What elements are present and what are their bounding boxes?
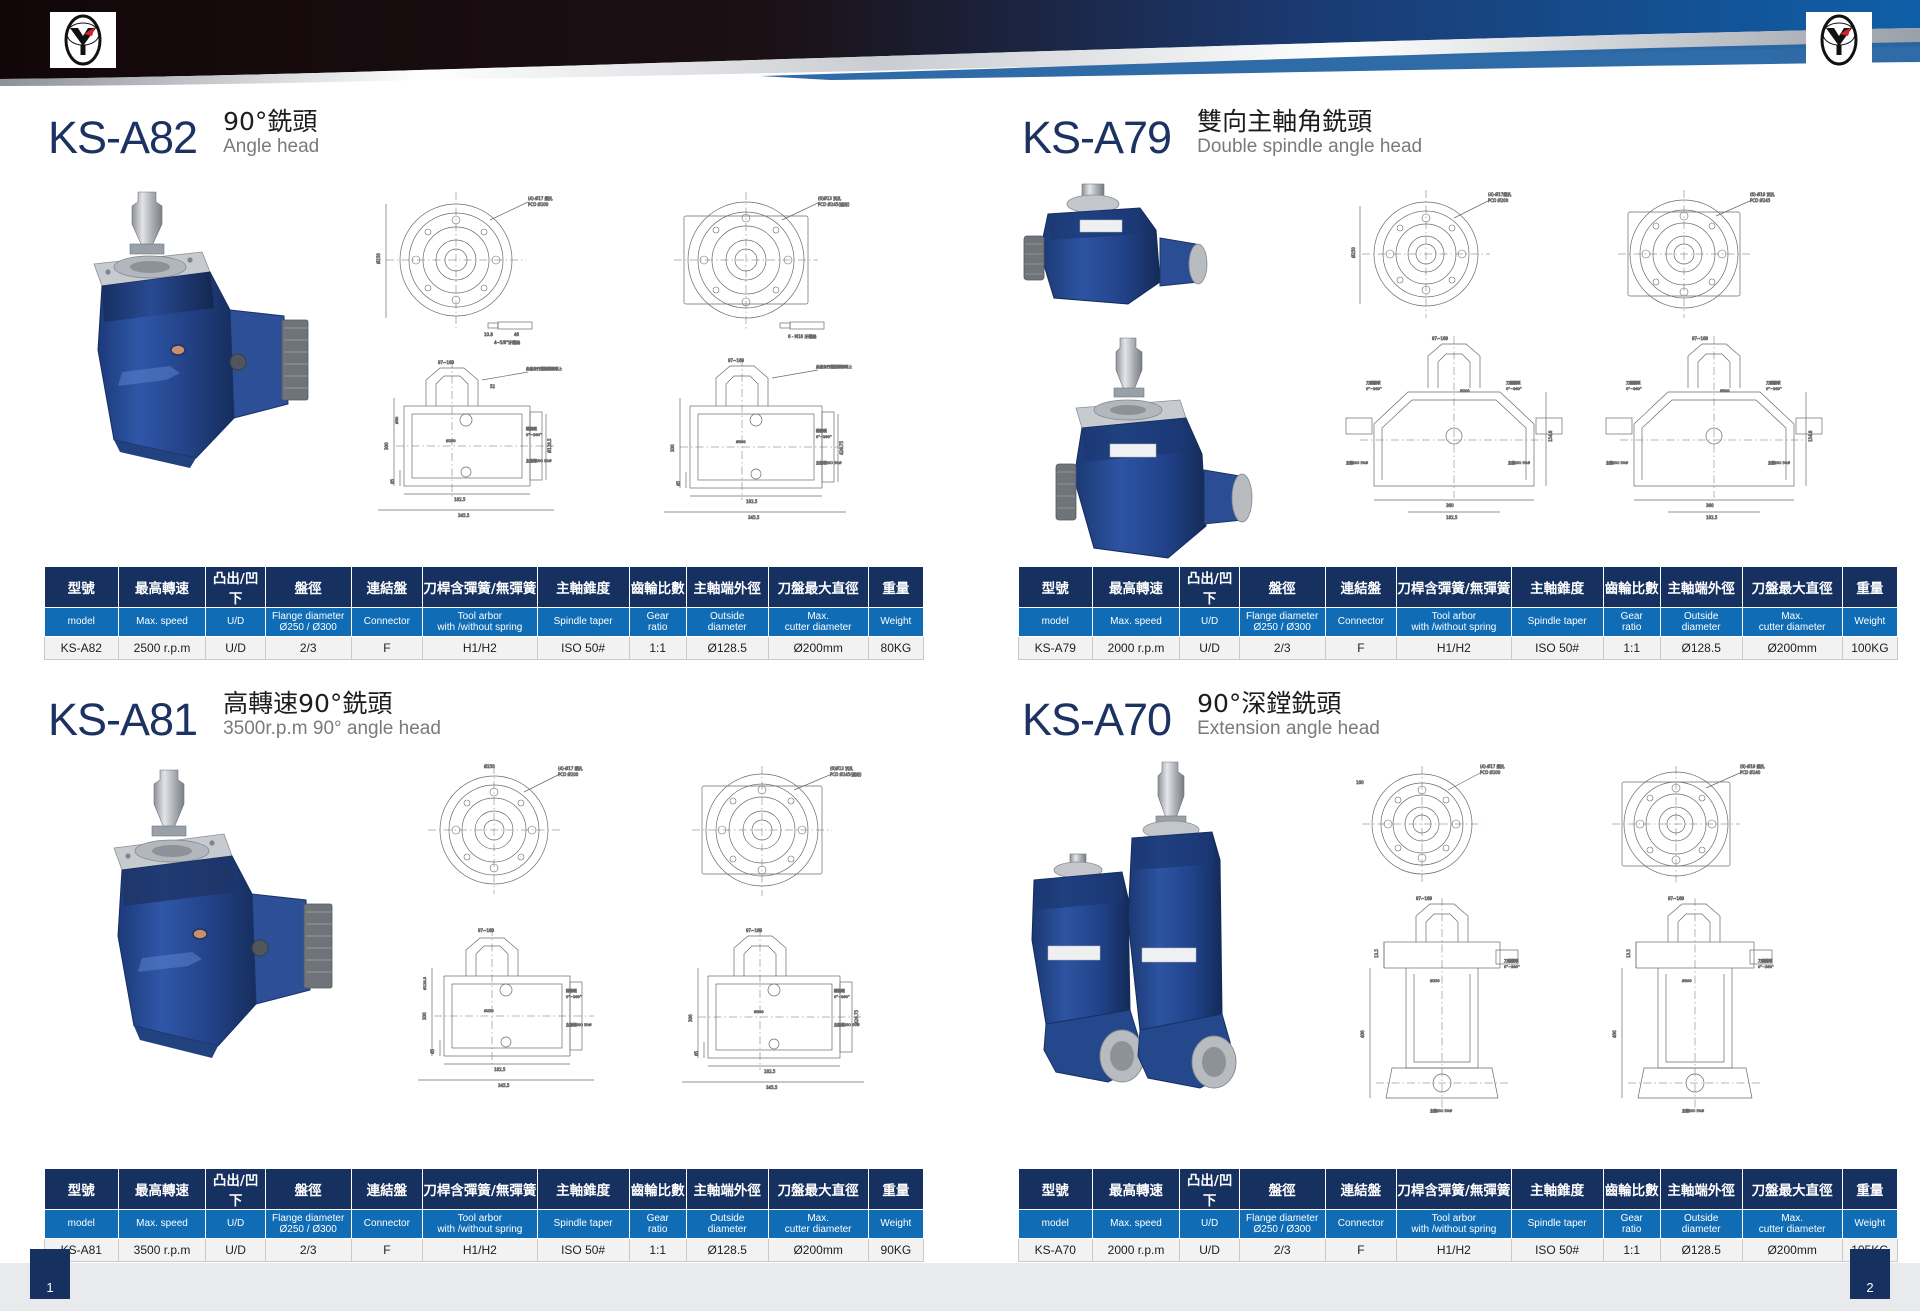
svg-text:主軸ISO 50#: 主軸ISO 50# [1346, 460, 1368, 465]
svg-text:(4)-Ø17鑽孔: (4)-Ø17鑽孔 [1488, 191, 1511, 197]
svg-text:97~169: 97~169 [728, 358, 745, 363]
svg-text:Ø128.5: Ø128.5 [547, 438, 552, 453]
svg-text:182.5: 182.5 [1446, 515, 1458, 520]
svg-text:Ø250: Ø250 [484, 1008, 494, 1013]
svg-text:Ø300: Ø300 [1720, 388, 1730, 393]
th-en-1: Max. speed [118, 608, 206, 637]
svg-text:Ø50: Ø50 [394, 416, 399, 424]
th-cn-2: 凸出/凹下 [1180, 567, 1239, 608]
svg-text:0°~360°: 0°~360° [1766, 387, 1782, 391]
th-cn-9: 刀盤最大直徑 [768, 567, 868, 608]
svg-text:(6)Ø13 沉孔: (6)Ø13 沉孔 [818, 195, 841, 201]
th-cn-7: 齒輪比數 [629, 1169, 686, 1210]
th-en-8: Outsidediameter [686, 1210, 768, 1239]
th-cn-1: 最高轉速 [118, 1169, 206, 1210]
svg-text:182.5: 182.5 [454, 497, 466, 502]
th-cn-5: 刀桿含彈簧/無彈簧 [1397, 567, 1511, 608]
svg-text:刀盤擺頭: 刀盤擺頭 [1758, 958, 1773, 963]
cell-ud: U/D [206, 637, 265, 660]
technical-drawing-ks-a81: (4)-Ø17 鑽孔 PCD Ø200 Ø250 [400, 760, 960, 1130]
th-en-4: Connector [1325, 1210, 1397, 1239]
svg-text:345.5: 345.5 [458, 513, 470, 518]
product-header-ks-a70: KS-A70 90°深鏜銑頭 Extension angle head [1022, 690, 1380, 742]
svg-text:刀盤擺頭: 刀盤擺頭 [1504, 958, 1519, 963]
th-en-8: Outsidediameter [686, 608, 768, 637]
th-en-7: Gearratio [1603, 608, 1660, 637]
svg-text:13.5: 13.5 [1626, 949, 1631, 958]
svg-text:刀盤擺頭: 刀盤擺頭 [1626, 380, 1641, 385]
th-cn-6: 主軸錐度 [1511, 567, 1603, 608]
table-header-row-en: model Max. speed U/D Flange diameterØ250… [45, 1210, 924, 1239]
svg-text:300: 300 [688, 1014, 693, 1022]
table-header-row-en: model Max. speed U/D Flange diameterØ250… [45, 608, 924, 637]
product-title-cn: 雙向主軸角銑頭 [1197, 108, 1422, 136]
svg-text:300: 300 [670, 444, 675, 452]
cell-taper: ISO 50# [1511, 637, 1603, 660]
product-header-ks-a79: KS-A79 雙向主軸角銑頭 Double spindle angle head [1022, 108, 1422, 160]
svg-text:刀盤擺頭: 刀盤擺頭 [1766, 380, 1781, 385]
th-cn-0: 型號 [45, 1169, 119, 1210]
svg-text:13.5: 13.5 [1374, 949, 1379, 958]
product-title-en: 3500r.p.m 90° angle head [223, 718, 441, 740]
product-title-cn: 90°深鏜銑頭 [1197, 690, 1380, 718]
svg-text:PCD Ø245(適用): PCD Ø245(適用) [818, 201, 850, 207]
svg-text:65: 65 [390, 478, 395, 484]
svg-text:0°~360°: 0°~360° [1626, 387, 1642, 391]
svg-text:主軸端ISO 50#: 主軸端ISO 50# [566, 1022, 592, 1027]
svg-text:6 - M18 牙螺絲: 6 - M18 牙螺絲 [788, 333, 816, 339]
svg-text:Ø300: Ø300 [754, 1009, 764, 1014]
th-en-4: Connector [1325, 608, 1397, 637]
th-cn-10: 重量 [868, 567, 923, 608]
th-cn-1: 最高轉速 [118, 567, 206, 608]
table-row: KS-A79 2000 r.p.m U/D 2/3 F H1/H2 ISO 50… [1019, 637, 1898, 660]
th-cn-10: 重量 [1842, 1169, 1897, 1210]
cell-weight: 80KG [868, 637, 923, 660]
svg-text:Ø300: Ø300 [1682, 978, 1692, 983]
th-en-3: Flange diameterØ250 / Ø300 [265, 608, 351, 637]
cell-speed: 2500 r.p.m [118, 637, 206, 660]
th-cn-5: 刀桿含彈簧/無彈簧 [1397, 1169, 1511, 1210]
svg-text:PCD Ø200: PCD Ø200 [528, 202, 549, 207]
svg-text:46: 46 [514, 332, 520, 337]
product-code: KS-A82 [48, 115, 197, 160]
svg-text:0°~360°: 0°~360° [566, 995, 582, 999]
technical-drawing-ks-a82: (4)-Ø17 鑽孔 PCD Ø200 Ø250 10.8 46 4~5/8"牙… [360, 188, 970, 558]
svg-text:(4)-Ø17 鑽孔: (4)-Ø17 鑽孔 [1480, 763, 1505, 769]
svg-text:400: 400 [1360, 1030, 1365, 1038]
svg-text:Ø200: Ø200 [1460, 388, 1470, 393]
th-en-6: Spindle taper [537, 1210, 629, 1239]
svg-text:Ø250: Ø250 [1351, 247, 1356, 258]
th-en-7: Gearratio [1603, 1210, 1660, 1239]
spec-table-ks-a81: 型號 最高轉速 凸出/凹下 盤徑 連結盤 刀桿含彈簧/無彈簧 主軸錐度 齒輪比數… [44, 1168, 924, 1262]
svg-text:97~169: 97~169 [438, 360, 455, 365]
page-number-right: 2 [1850, 1249, 1890, 1299]
th-en-5: Tool arborwith /without spring [1397, 608, 1511, 637]
cell-arbor: H1/H2 [1397, 637, 1511, 660]
th-en-6: Spindle taper [1511, 1210, 1603, 1239]
th-en-5: Tool arborwith /without spring [423, 1210, 537, 1239]
cell-cutter: Ø200mm [768, 637, 868, 660]
product-header-ks-a81: KS-A81 高轉速90°銑頭 3500r.p.m 90° angle head [48, 690, 441, 742]
svg-text:轉接環: 轉接環 [834, 988, 845, 993]
page-number-left: 1 [30, 1249, 70, 1299]
spec-table-ks-a79: 型號 最高轉速 凸出/凹下 盤徑 連結盤 刀桿含彈簧/無彈簧 主軸錐度 齒輪比數… [1018, 566, 1898, 660]
svg-text:0°~360°: 0°~360° [1506, 387, 1522, 391]
th-cn-7: 齒輪比數 [1603, 567, 1660, 608]
svg-text:0°~360°: 0°~360° [1366, 387, 1382, 391]
svg-text:(6)-Ø19 鑽孔: (6)-Ø19 鑽孔 [1740, 763, 1765, 769]
th-en-3: Flange diameterØ250 / Ø300 [1239, 1210, 1325, 1239]
table-header-row-cn: 型號 最高轉速 凸出/凹下 盤徑 連結盤 刀桿含彈簧/無彈簧 主軸錐度 齒輪比數… [45, 567, 924, 608]
th-cn-9: 刀盤最大直徑 [1742, 1169, 1842, 1210]
th-cn-7: 齒輪比數 [1603, 1169, 1660, 1210]
th-en-0: model [1019, 608, 1093, 637]
product-title-cn: 高轉速90°銑頭 [223, 690, 441, 718]
svg-text:PCD Ø245: PCD Ø245 [1750, 198, 1771, 203]
th-cn-4: 連結盤 [1325, 1169, 1397, 1210]
cell-weight: 100KG [1842, 637, 1897, 660]
cell-connector: F [351, 637, 423, 660]
svg-text:345.5: 345.5 [498, 1083, 510, 1088]
th-en-2: U/D [206, 608, 265, 637]
th-cn-2: 凸出/凹下 [1180, 1169, 1239, 1210]
table-row: KS-A82 2500 r.p.m U/D 2/3 F H1/H2 ISO 50… [45, 637, 924, 660]
svg-text:PCD Ø200: PCD Ø200 [1480, 770, 1501, 775]
th-en-2: U/D [206, 1210, 265, 1239]
th-en-7: Gearratio [629, 1210, 686, 1239]
product-photo-ks-a82 [78, 190, 338, 475]
svg-text:65: 65 [676, 480, 681, 486]
th-en-3: Flange diameterØ250 / Ø300 [265, 1210, 351, 1239]
svg-text:主軸ISO 50#: 主軸ISO 50# [1430, 1108, 1452, 1113]
cell-taper: ISO 50# [537, 637, 629, 660]
technical-drawing-ks-a79: (4)-Ø17鑽孔 PCD Ø200 Ø250 [1330, 186, 1905, 566]
svg-text:426.75: 426.75 [839, 441, 844, 455]
svg-text:(4)-Ø17 鑽孔: (4)-Ø17 鑽孔 [528, 195, 553, 201]
svg-text:Ø250: Ø250 [446, 438, 456, 443]
th-cn-2: 凸出/凹下 [206, 567, 265, 608]
th-cn-0: 型號 [45, 567, 119, 608]
th-en-10: Weight [868, 1210, 923, 1239]
svg-text:65: 65 [694, 1050, 699, 1056]
th-cn-0: 型號 [1019, 567, 1093, 608]
table-header-row-en: model Max. speed U/D Flange diameterØ250… [1019, 1210, 1898, 1239]
th-cn-3: 盤徑 [265, 567, 351, 608]
th-cn-10: 重量 [868, 1169, 923, 1210]
cell-cutter: Ø200mm [1742, 637, 1842, 660]
cell-gear: 1:1 [629, 637, 686, 660]
th-en-1: Max. speed [1092, 1210, 1180, 1239]
th-cn-8: 主軸端外徑 [1660, 567, 1742, 608]
th-cn-8: 主軸端外徑 [686, 1169, 768, 1210]
th-cn-4: 連結盤 [351, 1169, 423, 1210]
th-en-6: Spindle taper [1511, 608, 1603, 637]
cell-speed: 2000 r.p.m [1092, 637, 1180, 660]
cell-connector: F [1325, 637, 1397, 660]
product-photo-ks-a79 [1010, 178, 1270, 573]
th-en-7: Gearratio [629, 608, 686, 637]
spec-table-ks-a70: 型號 最高轉速 凸出/凹下 盤徑 連結盤 刀桿含彈簧/無彈簧 主軸錐度 齒輪比數… [1018, 1168, 1898, 1262]
svg-text:154.8: 154.8 [1548, 430, 1553, 442]
th-en-4: Connector [351, 608, 423, 637]
cell-flange: 2/3 [1239, 637, 1325, 660]
svg-text:刀盤擺頭: 刀盤擺頭 [1506, 380, 1521, 385]
th-en-0: model [45, 1210, 119, 1239]
header-banner [0, 0, 1920, 92]
svg-text:Ø128.5: Ø128.5 [422, 977, 427, 990]
th-cn-8: 主軸端外徑 [686, 567, 768, 608]
th-cn-0: 型號 [1019, 1169, 1093, 1210]
svg-text:(6)Ø13 沉孔: (6)Ø13 沉孔 [830, 765, 853, 771]
svg-text:PCD Ø200: PCD Ø200 [558, 772, 579, 777]
th-cn-3: 盤徑 [265, 1169, 351, 1210]
th-en-9: Max.cutter diameter [1742, 1210, 1842, 1239]
svg-text:0°~360°: 0°~360° [816, 435, 832, 439]
cell-outside: Ø128.5 [686, 637, 768, 660]
th-cn-7: 齒輪比數 [629, 567, 686, 608]
th-en-10: Weight [868, 608, 923, 637]
th-cn-10: 重量 [1842, 567, 1897, 608]
svg-text:主軸端ISO 50#: 主軸端ISO 50# [816, 460, 842, 465]
spec-table-ks-a82: 型號 最高轉速 凸出/凹下 盤徑 連結盤 刀桿含彈簧/無彈簧 主軸錐度 齒輪比數… [44, 566, 924, 660]
th-en-2: U/D [1180, 608, 1239, 637]
th-cn-3: 盤徑 [1239, 567, 1325, 608]
catalog-page: KS-A82 90°銑頭 Angle head [0, 0, 1920, 1311]
th-en-9: Max.cutter diameter [1742, 608, 1842, 637]
svg-text:97~169: 97~169 [1692, 336, 1709, 341]
company-logo-secondary [1806, 12, 1872, 68]
th-en-3: Flange diameterØ250 / Ø300 [1239, 608, 1325, 637]
product-title-en: Double spindle angle head [1197, 136, 1422, 158]
svg-text:97~169: 97~169 [1432, 336, 1449, 341]
svg-text:轉接環: 轉接環 [816, 428, 827, 433]
th-en-8: Outsidediameter [1660, 1210, 1742, 1239]
th-cn-6: 主軸錐度 [1511, 1169, 1603, 1210]
product-title-en: Extension angle head [1197, 718, 1380, 740]
th-en-10: Weight [1842, 1210, 1897, 1239]
product-header-ks-a82: KS-A82 90°銑頭 Angle head [48, 108, 319, 160]
svg-text:刀盤擺頭: 刀盤擺頭 [1366, 380, 1381, 385]
svg-text:182.5: 182.5 [494, 1067, 506, 1072]
svg-text:97~169: 97~169 [1668, 896, 1685, 901]
svg-text:10.8: 10.8 [484, 332, 493, 337]
svg-text:主軸ISO 50#: 主軸ISO 50# [1606, 460, 1628, 465]
th-en-0: model [1019, 1210, 1093, 1239]
svg-text:PCD Ø240: PCD Ø240 [1740, 770, 1761, 775]
th-en-4: Connector [351, 1210, 423, 1239]
svg-text:345.5: 345.5 [766, 1085, 778, 1090]
svg-text:Ø250: Ø250 [484, 764, 495, 769]
company-logo [50, 12, 116, 68]
svg-text:426.75: 426.75 [854, 1010, 859, 1024]
table-header-row-cn: 型號 最高轉速 凸出/凹下 盤徑 連結盤 刀桿含彈簧/無彈簧 主軸錐度 齒輪比數… [45, 1169, 924, 1210]
table-header-row-cn: 型號 最高轉速 凸出/凹下 盤徑 連結盤 刀桿含彈簧/無彈簧 主軸錐度 齒輪比數… [1019, 1169, 1898, 1210]
svg-text:此板自行搭配轉接環上: 此板自行搭配轉接環上 [816, 364, 852, 369]
cell-model: KS-A82 [45, 637, 119, 660]
th-cn-9: 刀盤最大直徑 [768, 1169, 868, 1210]
svg-text:154.8: 154.8 [1808, 430, 1813, 442]
cell-ud: U/D [1180, 637, 1239, 660]
th-cn-2: 凸出/凹下 [206, 1169, 265, 1210]
th-cn-1: 最高轉速 [1092, 567, 1180, 608]
svg-text:Ø250: Ø250 [1430, 978, 1440, 983]
th-cn-9: 刀盤最大直徑 [1742, 567, 1842, 608]
th-cn-3: 盤徑 [1239, 1169, 1325, 1210]
svg-text:主軸ISO 50#: 主軸ISO 50# [1768, 460, 1790, 465]
svg-text:345.5: 345.5 [748, 515, 760, 520]
cell-outside: Ø128.5 [1660, 637, 1742, 660]
th-en-10: Weight [1842, 608, 1897, 637]
th-cn-6: 主軸錐度 [537, 1169, 629, 1210]
svg-text:主軸端ISO 50#: 主軸端ISO 50# [526, 458, 552, 463]
svg-text:Ø300: Ø300 [736, 439, 746, 444]
cell-flange: 2/3 [265, 637, 351, 660]
th-cn-5: 刀桿含彈簧/無彈簧 [423, 567, 537, 608]
th-en-9: Max.cutter diameter [768, 608, 868, 637]
cell-arbor: H1/H2 [423, 637, 537, 660]
footer-bar [0, 1263, 1920, 1311]
svg-text:300: 300 [384, 442, 389, 450]
svg-text:此板自行搭配轉接環上: 此板自行搭配轉接環上 [526, 366, 562, 371]
product-title-en: Angle head [223, 136, 319, 158]
th-cn-1: 最高轉速 [1092, 1169, 1180, 1210]
svg-text:0°~360°: 0°~360° [834, 995, 850, 999]
svg-text:97~169: 97~169 [746, 928, 763, 933]
cell-model: KS-A79 [1019, 637, 1093, 660]
th-en-6: Spindle taper [537, 608, 629, 637]
th-cn-6: 主軸錐度 [537, 567, 629, 608]
svg-text:65: 65 [430, 1048, 435, 1054]
th-en-8: Outsidediameter [1660, 608, 1742, 637]
product-code: KS-A81 [48, 697, 197, 742]
th-en-9: Max.cutter diameter [768, 1210, 868, 1239]
product-code: KS-A79 [1022, 115, 1171, 160]
table-header-row-cn: 型號 最高轉速 凸出/凹下 盤徑 連結盤 刀桿含彈簧/無彈簧 主軸錐度 齒輪比數… [1019, 567, 1898, 608]
svg-text:52: 52 [490, 384, 496, 389]
technical-drawing-ks-a70: (4)-Ø17 鑽孔 PCD Ø200 160 [1320, 758, 1900, 1138]
svg-text:轉接環: 轉接環 [526, 426, 537, 431]
th-en-5: Tool arborwith /without spring [1397, 1210, 1511, 1239]
svg-text:(6)-Ø19 沉孔: (6)-Ø19 沉孔 [1750, 191, 1775, 197]
svg-text:(4)-Ø17 鑽孔: (4)-Ø17 鑽孔 [558, 765, 583, 771]
svg-text:4~5/8"牙螺絲: 4~5/8"牙螺絲 [494, 339, 520, 345]
svg-text:PCD Ø200: PCD Ø200 [1488, 198, 1509, 203]
th-en-5: Tool arborwith /without spring [423, 608, 537, 637]
svg-text:182.5: 182.5 [764, 1069, 776, 1074]
product-title-cn: 90°銑頭 [223, 108, 319, 136]
th-en-1: Max. speed [118, 1210, 206, 1239]
th-cn-4: 連結盤 [1325, 567, 1397, 608]
th-cn-5: 刀桿含彈簧/無彈簧 [423, 1169, 537, 1210]
svg-text:PCD Ø245(適用): PCD Ø245(適用) [830, 771, 862, 777]
svg-text:主軸ISO 50#: 主軸ISO 50# [1682, 1108, 1704, 1113]
svg-text:160: 160 [1356, 780, 1364, 785]
svg-text:Ø250: Ø250 [376, 253, 381, 264]
th-cn-4: 連結盤 [351, 567, 423, 608]
svg-text:400: 400 [1612, 1030, 1617, 1038]
th-en-2: U/D [1180, 1210, 1239, 1239]
svg-text:360: 360 [1706, 503, 1714, 508]
product-photo-ks-a81 [98, 768, 358, 1073]
svg-text:0°~360°: 0°~360° [526, 433, 542, 437]
product-code: KS-A70 [1022, 697, 1171, 742]
svg-text:97~169: 97~169 [1416, 896, 1433, 901]
svg-text:182.5: 182.5 [746, 499, 758, 504]
svg-text:360: 360 [1446, 503, 1454, 508]
th-en-0: model [45, 608, 119, 637]
table-header-row-en: model Max. speed U/D Flange diameterØ250… [1019, 608, 1898, 637]
svg-text:主軸ISO 50#: 主軸ISO 50# [1508, 460, 1530, 465]
svg-text:0°~360°: 0°~360° [1758, 965, 1774, 969]
svg-text:97~169: 97~169 [478, 928, 495, 933]
th-cn-8: 主軸端外徑 [1660, 1169, 1742, 1210]
svg-text:0°~360°: 0°~360° [1504, 965, 1520, 969]
page-footer: 1 2 [0, 1249, 1920, 1311]
product-photo-ks-a70 [1012, 760, 1262, 1140]
svg-text:182.5: 182.5 [1706, 515, 1718, 520]
cell-gear: 1:1 [1603, 637, 1660, 660]
th-en-1: Max. speed [1092, 608, 1180, 637]
svg-text:300: 300 [422, 1012, 427, 1020]
svg-text:轉接環: 轉接環 [566, 988, 577, 993]
